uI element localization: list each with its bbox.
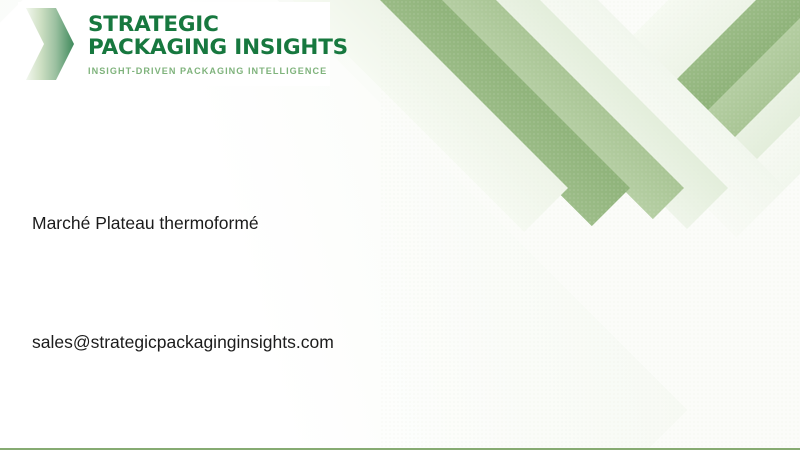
chevron-arrow-mark [24, 6, 76, 82]
contact-email: sales@strategicpackaginginsights.com [32, 332, 334, 353]
band-ghost-bottom [440, 0, 786, 237]
band-ghost-top [737, 0, 800, 188]
band-light-green-bottom [356, 0, 684, 219]
band-pale-outer-top [524, 0, 800, 188]
band-pale-inner-bottom [390, 0, 728, 229]
logo-wordmark: STRATEGIC PACKAGING INSIGHTS INSIGHT-DRI… [88, 13, 348, 76]
band-medium-green-top [592, 0, 800, 188]
slide-canvas: STRATEGIC PACKAGING INSIGHTS INSIGHT-DRI… [0, 0, 800, 450]
logo-lockup: STRATEGIC PACKAGING INSIGHTS INSIGHT-DRI… [18, 2, 330, 86]
page-title: Marché Plateau thermoformé [32, 213, 259, 234]
band-pale-inner-top [687, 0, 800, 188]
band-light-green-top [653, 0, 800, 188]
logo-line-1: STRATEGIC [88, 13, 348, 36]
logo-tagline: INSIGHT-DRIVEN PACKAGING INTELLIGENCE [88, 66, 348, 76]
dot-texture-overlay [380, 0, 800, 450]
logo-line-2: PACKAGING INSIGHTS [88, 36, 348, 59]
